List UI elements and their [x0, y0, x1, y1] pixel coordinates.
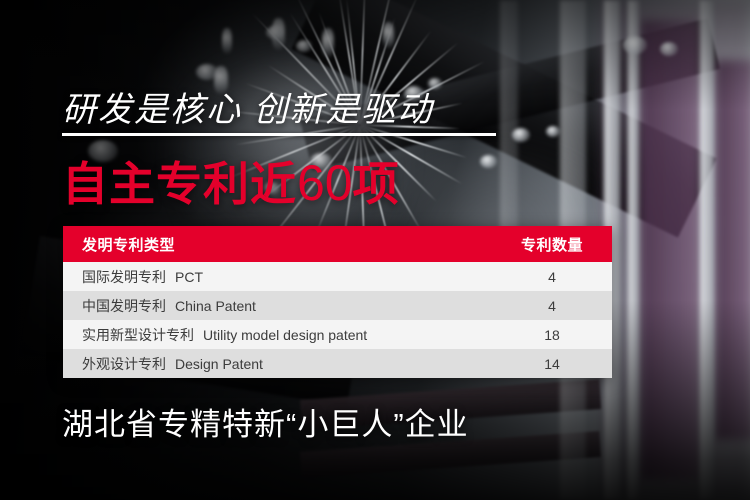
subheadline-prefix: 自主专利近 — [62, 158, 297, 210]
table-header-row: 发明专利类型 专利数量 — [63, 226, 612, 262]
patent-poster: 研发是核心 创新是驱动 自主专利近60项 发明专利类型 专利数量 国际发明专利P… — [0, 0, 750, 500]
patent-type-cn: 中国发明专利 — [82, 298, 166, 314]
cell-patent-type: 实用新型设计专利Utility model design patent — [63, 325, 492, 345]
subheadline: 自主专利近60项 — [62, 148, 400, 214]
patent-type-en: PCT — [175, 269, 203, 285]
subheadline-suffix: 项 — [353, 158, 400, 210]
cell-patent-type: 中国发明专利China Patent — [63, 296, 492, 316]
headline: 研发是核心 创新是驱动 — [62, 82, 433, 131]
cell-patent-count: 14 — [492, 356, 612, 372]
poster-content: 研发是核心 创新是驱动 自主专利近60项 发明专利类型 专利数量 国际发明专利P… — [0, 0, 750, 500]
bottom-caption: 湖北省专精特新“小巨人”企业 — [62, 399, 469, 444]
patent-type-cn: 实用新型设计专利 — [82, 327, 194, 343]
cell-patent-type: 外观设计专利Design Patent — [63, 354, 492, 374]
cell-patent-type: 国际发明专利PCT — [63, 267, 492, 287]
table-row: 中国发明专利China Patent 4 — [63, 291, 612, 320]
patent-type-cn: 国际发明专利 — [82, 269, 166, 285]
table-row: 外观设计专利Design Patent 14 — [63, 349, 612, 378]
cell-patent-count: 18 — [492, 327, 612, 343]
patent-type-en: Design Patent — [175, 356, 263, 372]
subheadline-number: 60 — [297, 155, 353, 211]
column-header-count: 专利数量 — [492, 234, 612, 255]
patent-type-en: China Patent — [175, 298, 256, 314]
cell-patent-count: 4 — [492, 298, 612, 314]
patent-table: 发明专利类型 专利数量 国际发明专利PCT 4 中国发明专利China Pate… — [63, 226, 612, 378]
headline-divider — [62, 133, 496, 136]
table-row: 国际发明专利PCT 4 — [63, 262, 612, 291]
patent-type-cn: 外观设计专利 — [82, 356, 166, 372]
patent-type-en: Utility model design patent — [203, 327, 367, 343]
cell-patent-count: 4 — [492, 269, 612, 285]
column-header-type: 发明专利类型 — [63, 234, 492, 255]
table-row: 实用新型设计专利Utility model design patent 18 — [63, 320, 612, 349]
